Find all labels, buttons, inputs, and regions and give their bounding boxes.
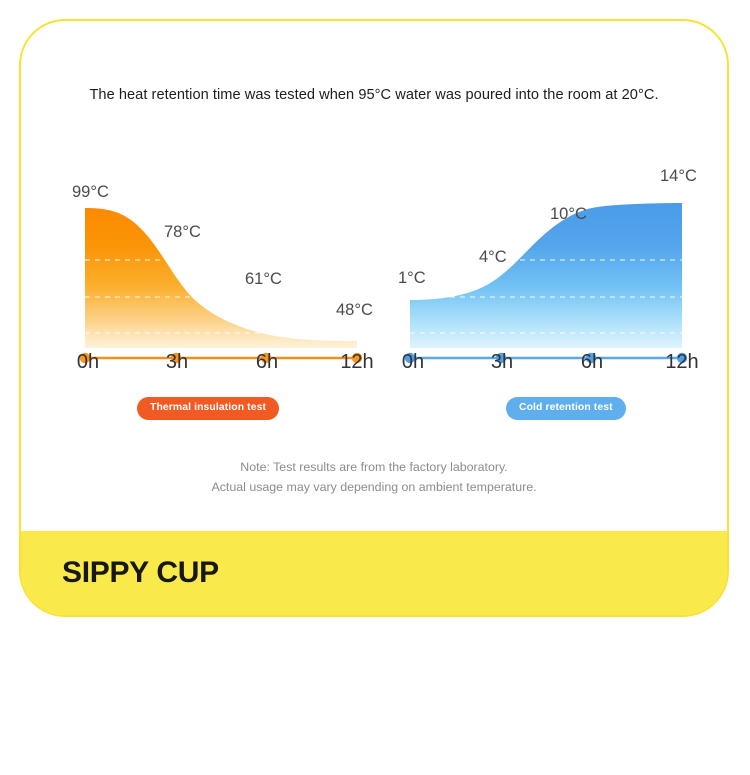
legend-pill-thermal-insulation[interactable]: Thermal insulation test	[137, 397, 279, 420]
info-card: The heat retention time was tested when …	[19, 19, 729, 617]
cold-area-fill	[410, 203, 682, 348]
footnote-line-1: Note: Test results are from the factory …	[21, 457, 727, 477]
cold-xtick-3h: 3h	[491, 351, 513, 374]
product-name-band: SIPPY CUP	[21, 531, 727, 615]
cold-point-label-12h: 14°C	[660, 167, 697, 186]
product-name-title: SIPPY CUP	[62, 556, 219, 590]
thermal-xtick-3h: 3h	[166, 351, 188, 374]
thermal-point-label-12h: 48°C	[336, 301, 373, 320]
thermal-xtick-0h: 0h	[77, 351, 99, 374]
cold-point-label-3h: 4°C	[479, 248, 507, 267]
cold-point-label-0h: 1°C	[398, 269, 426, 288]
cold-xtick-6h: 6h	[581, 351, 603, 374]
thermal-xtick-12h: 12h	[340, 351, 373, 374]
cold-xtick-0h: 0h	[402, 351, 424, 374]
cold-xtick-12h: 12h	[665, 351, 698, 374]
thermal-xtick-6h: 6h	[256, 351, 278, 374]
product-infographic: The heat retention time was tested when …	[0, 0, 750, 775]
chart-thermal-insulation: 99°C 78°C 61°C 48°C 0h 3h 6h 12h	[44, 151, 374, 401]
cold-point-label-6h: 10°C	[550, 205, 587, 224]
thermal-point-label-3h: 78°C	[164, 223, 201, 242]
legend-pill-cold-retention[interactable]: Cold retention test	[506, 397, 626, 420]
charts-container: 99°C 78°C 61°C 48°C 0h 3h 6h 12h	[21, 21, 727, 615]
footnote: Note: Test results are from the factory …	[21, 457, 727, 497]
thermal-point-label-0h: 99°C	[72, 183, 109, 202]
chart-cold-retention: 1°C 4°C 10°C 14°C 0h 3h 6h 12h	[392, 151, 722, 401]
thermal-area-fill	[85, 208, 357, 348]
thermal-point-label-6h: 61°C	[245, 270, 282, 289]
legend-row: Thermal insulation test Cold retention t…	[21, 397, 727, 427]
footnote-line-2: Actual usage may vary depending on ambie…	[21, 477, 727, 497]
